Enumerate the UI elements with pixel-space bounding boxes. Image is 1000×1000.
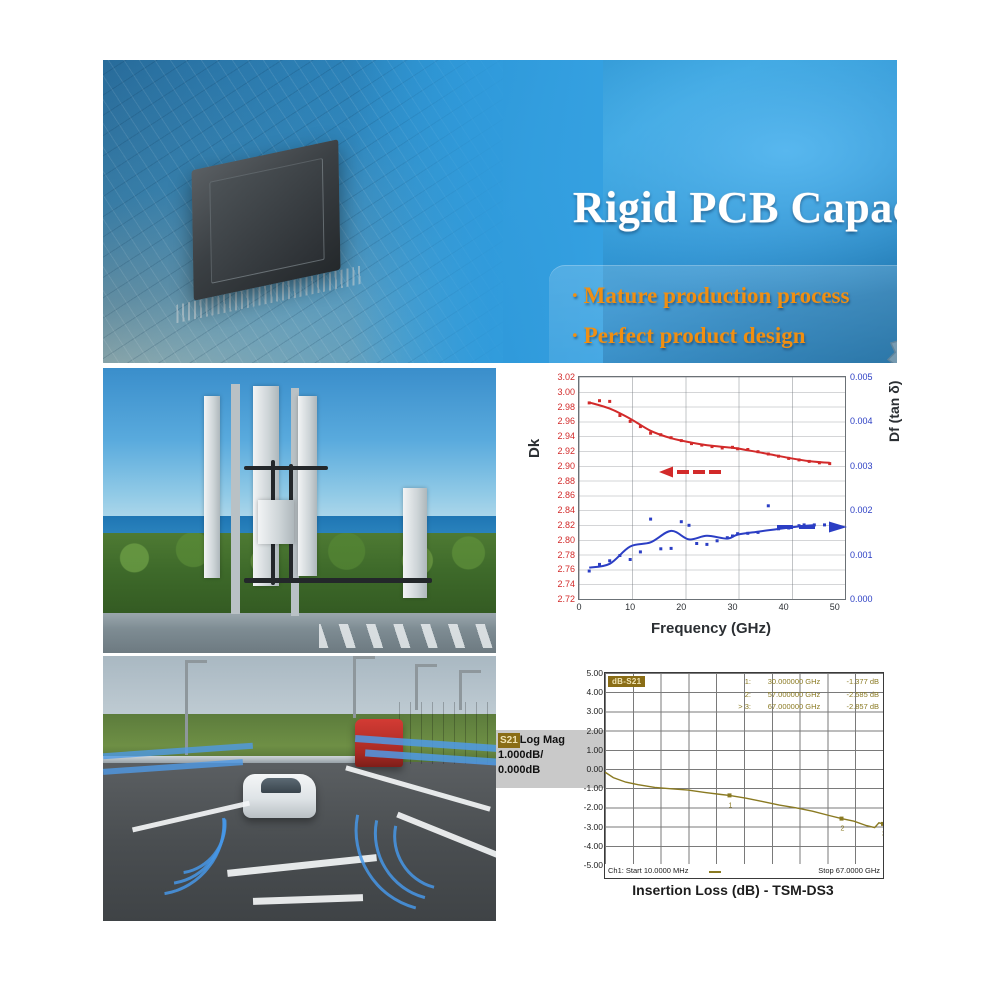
series-point-dk bbox=[818, 461, 821, 464]
series-point-dk bbox=[787, 457, 790, 460]
chart-y2-tick-label: 0.000 bbox=[850, 594, 873, 604]
vna-sweep-footer: Ch1: Start 10.0000 MHz Stop 67.0000 GHz bbox=[604, 864, 884, 879]
chart-y-tick-label: 2.98 bbox=[557, 402, 575, 412]
trace-settings-overlay: S21Log Mag 1.000dB/ 0.000dB bbox=[496, 730, 608, 788]
rooftop bbox=[103, 613, 496, 653]
series-point-dk bbox=[649, 432, 652, 435]
series-point-dk bbox=[711, 445, 714, 448]
poster-root: Rigid PCB Capacity bbox=[0, 0, 1000, 1000]
series-point-dk bbox=[798, 458, 801, 461]
antenna-panel bbox=[253, 386, 279, 586]
overlay-trace-badge: S21 bbox=[498, 733, 520, 748]
series-point-df bbox=[659, 547, 662, 550]
series-point-dk bbox=[598, 399, 601, 402]
series-line-df bbox=[589, 525, 814, 568]
series-point-dk bbox=[608, 400, 611, 403]
series-point-dk bbox=[629, 420, 632, 423]
series-point-df bbox=[777, 527, 780, 530]
capability-list: ·Mature production process ·Perfect prod… bbox=[571, 284, 897, 363]
chart-y-tick-label: 3.02 bbox=[557, 372, 575, 382]
sweep-start-label: Ch1: Start 10.0000 MHz bbox=[608, 866, 688, 875]
highway-v2x-photo bbox=[103, 656, 496, 921]
hero-banner: Rigid PCB Capacity bbox=[103, 60, 897, 363]
series-point-dk bbox=[680, 439, 683, 442]
chart-caption: Insertion Loss (dB) - TSM-DS3 bbox=[568, 882, 898, 898]
series-point-df bbox=[588, 570, 591, 573]
chart-x-tick-label: 10 bbox=[625, 602, 635, 612]
series-point-df bbox=[746, 532, 749, 535]
chart-y2-axis-label: Df (tan δ) bbox=[886, 381, 902, 442]
chart-y2-tick-label: 0.005 bbox=[850, 372, 873, 382]
series-point-dk bbox=[731, 446, 734, 449]
sweep-stop-label: Stop 67.0000 GHz bbox=[818, 866, 880, 875]
chart-y-tick-label: 2.80 bbox=[557, 535, 575, 545]
bullet-dot: · bbox=[571, 323, 579, 348]
series-point-dk bbox=[588, 401, 591, 404]
list-item: ·Mature production process bbox=[571, 284, 897, 307]
list-item: ·Perfect product design bbox=[571, 324, 897, 347]
antenna-panel bbox=[298, 396, 317, 576]
chart-y-axis-label: Dk bbox=[526, 439, 543, 458]
vna-y-tick-label: 3.00 bbox=[586, 706, 603, 716]
series-point-df bbox=[813, 523, 816, 526]
chart-y-tick-label: 2.84 bbox=[557, 505, 575, 515]
series-line-dk bbox=[589, 402, 830, 462]
series-point-df bbox=[823, 523, 826, 526]
antenna-radio-unit bbox=[258, 500, 294, 544]
series-point-df bbox=[695, 542, 698, 545]
chart-y-tick-label: 2.86 bbox=[557, 490, 575, 500]
series-point-df bbox=[629, 558, 632, 561]
chart-plot-area: 2.722.742.762.782.802.822.842.862.882.90… bbox=[578, 376, 846, 600]
chart-x-axis-label: Frequency (GHz) bbox=[578, 620, 844, 637]
series-point-df bbox=[680, 520, 683, 523]
series-point-df bbox=[705, 543, 708, 546]
series-point-df bbox=[608, 559, 611, 562]
chart-y-tick-label: 2.82 bbox=[557, 520, 575, 530]
chart-y-tick-label: 2.94 bbox=[557, 431, 575, 441]
trace-color-swatch bbox=[709, 871, 721, 873]
series-point-df bbox=[767, 504, 770, 507]
light-pole bbox=[353, 656, 356, 718]
bullet-dot: · bbox=[571, 283, 579, 308]
vna-y-tick-label: 1.00 bbox=[586, 745, 603, 755]
series-point-df bbox=[731, 535, 734, 538]
dk-df-chart: Dk Df (tan δ) Frequency (GHz) 2.722.742.… bbox=[520, 366, 900, 654]
chart-y-tick-label: 2.90 bbox=[557, 461, 575, 471]
vna-y-tick-label: -2.00 bbox=[584, 802, 603, 812]
series-point-df bbox=[618, 554, 621, 557]
chart-x-tick-label: 30 bbox=[727, 602, 737, 612]
series-point-dk bbox=[659, 433, 662, 436]
chart-y-tick-label: 2.72 bbox=[557, 594, 575, 604]
series-point-df bbox=[598, 563, 601, 566]
vna-y-tick-label: -1.00 bbox=[584, 783, 603, 793]
series-point-dk bbox=[639, 425, 642, 428]
series-point-dk bbox=[767, 453, 770, 456]
antenna-cabling bbox=[244, 466, 328, 470]
list-item-label: Mature production process bbox=[584, 283, 850, 308]
vna-y-tick-label: -3.00 bbox=[584, 822, 603, 832]
svg-text:2: 2 bbox=[841, 826, 845, 833]
chart-x-tick-label: 40 bbox=[779, 602, 789, 612]
series-point-dk bbox=[736, 447, 739, 450]
chart-y2-tick-label: 0.004 bbox=[850, 416, 873, 426]
chart-y-tick-label: 2.76 bbox=[557, 564, 575, 574]
series-point-df bbox=[649, 518, 652, 521]
series-point-df bbox=[757, 531, 760, 534]
series-point-dk bbox=[746, 448, 749, 451]
list-item-label: Perfect product design bbox=[584, 323, 806, 348]
svg-text:3: 3 bbox=[882, 831, 883, 838]
vna-y-tick-label: 5.00 bbox=[586, 668, 603, 678]
series-point-df bbox=[688, 524, 691, 527]
chart-y-tick-label: 2.88 bbox=[557, 476, 575, 486]
series-point-dk bbox=[618, 414, 621, 417]
series-point-dk bbox=[700, 444, 703, 447]
vna-y-tick-label: 2.00 bbox=[586, 726, 603, 736]
series-point-dk bbox=[670, 436, 673, 439]
marker-indicator: 3 bbox=[881, 822, 883, 838]
chart-x-tick-label: 0 bbox=[576, 602, 581, 612]
chart-y2-tick-label: 0.002 bbox=[850, 505, 873, 515]
series-point-dk bbox=[721, 447, 724, 450]
chart-series-layer bbox=[579, 377, 845, 599]
svg-text:1: 1 bbox=[729, 802, 733, 809]
vna-y-tick-label: 4.00 bbox=[586, 687, 603, 697]
chart-y-tick-label: 2.96 bbox=[557, 416, 575, 426]
chart-y-tick-label: 2.78 bbox=[557, 550, 575, 560]
chart-x-tick-label: 20 bbox=[676, 602, 686, 612]
light-pole bbox=[185, 660, 188, 755]
series-point-df bbox=[798, 524, 801, 527]
vna-y-tick-label: -5.00 bbox=[584, 860, 603, 870]
series-point-df bbox=[639, 550, 642, 553]
series-point-df bbox=[670, 547, 673, 550]
antenna-mast bbox=[231, 384, 240, 614]
vna-plot-area: dB-S21 1:30.000000 GHz-1.377 dB2:57.0000… bbox=[604, 672, 884, 866]
insertion-loss-chart: S21Log Mag 1.000dB/ 0.000dB dB-S21 1:30.… bbox=[568, 668, 898, 898]
chart-y2-tick-label: 0.001 bbox=[850, 550, 873, 560]
overlay-format-label: Log Mag bbox=[520, 734, 565, 746]
series-point-df bbox=[716, 539, 719, 542]
series-point-dk bbox=[828, 462, 831, 465]
antenna-tower-photo bbox=[103, 368, 496, 653]
series-point-df bbox=[726, 536, 729, 539]
series-point-dk bbox=[808, 460, 811, 463]
chart-x-tick-label: 50 bbox=[830, 602, 840, 612]
series-point-df bbox=[736, 532, 739, 535]
chart-y-tick-label: 3.00 bbox=[557, 387, 575, 397]
vna-trace-layer: 123 bbox=[605, 673, 883, 865]
chart-y-tick-label: 2.92 bbox=[557, 446, 575, 456]
series-point-df bbox=[803, 523, 806, 526]
series-point-dk bbox=[757, 450, 760, 453]
antenna-panel bbox=[204, 396, 220, 578]
page-title: Rigid PCB Capacity bbox=[538, 186, 897, 230]
vna-y-tick-label: -4.00 bbox=[584, 841, 603, 851]
chart-y-tick-label: 2.74 bbox=[557, 579, 575, 589]
series-point-dk bbox=[690, 442, 693, 445]
series-point-dk bbox=[777, 455, 780, 458]
chart-y2-tick-label: 0.003 bbox=[850, 461, 873, 471]
vna-y-tick-label: 0.00 bbox=[586, 764, 603, 774]
series-point-df bbox=[787, 527, 790, 530]
car bbox=[243, 774, 316, 818]
